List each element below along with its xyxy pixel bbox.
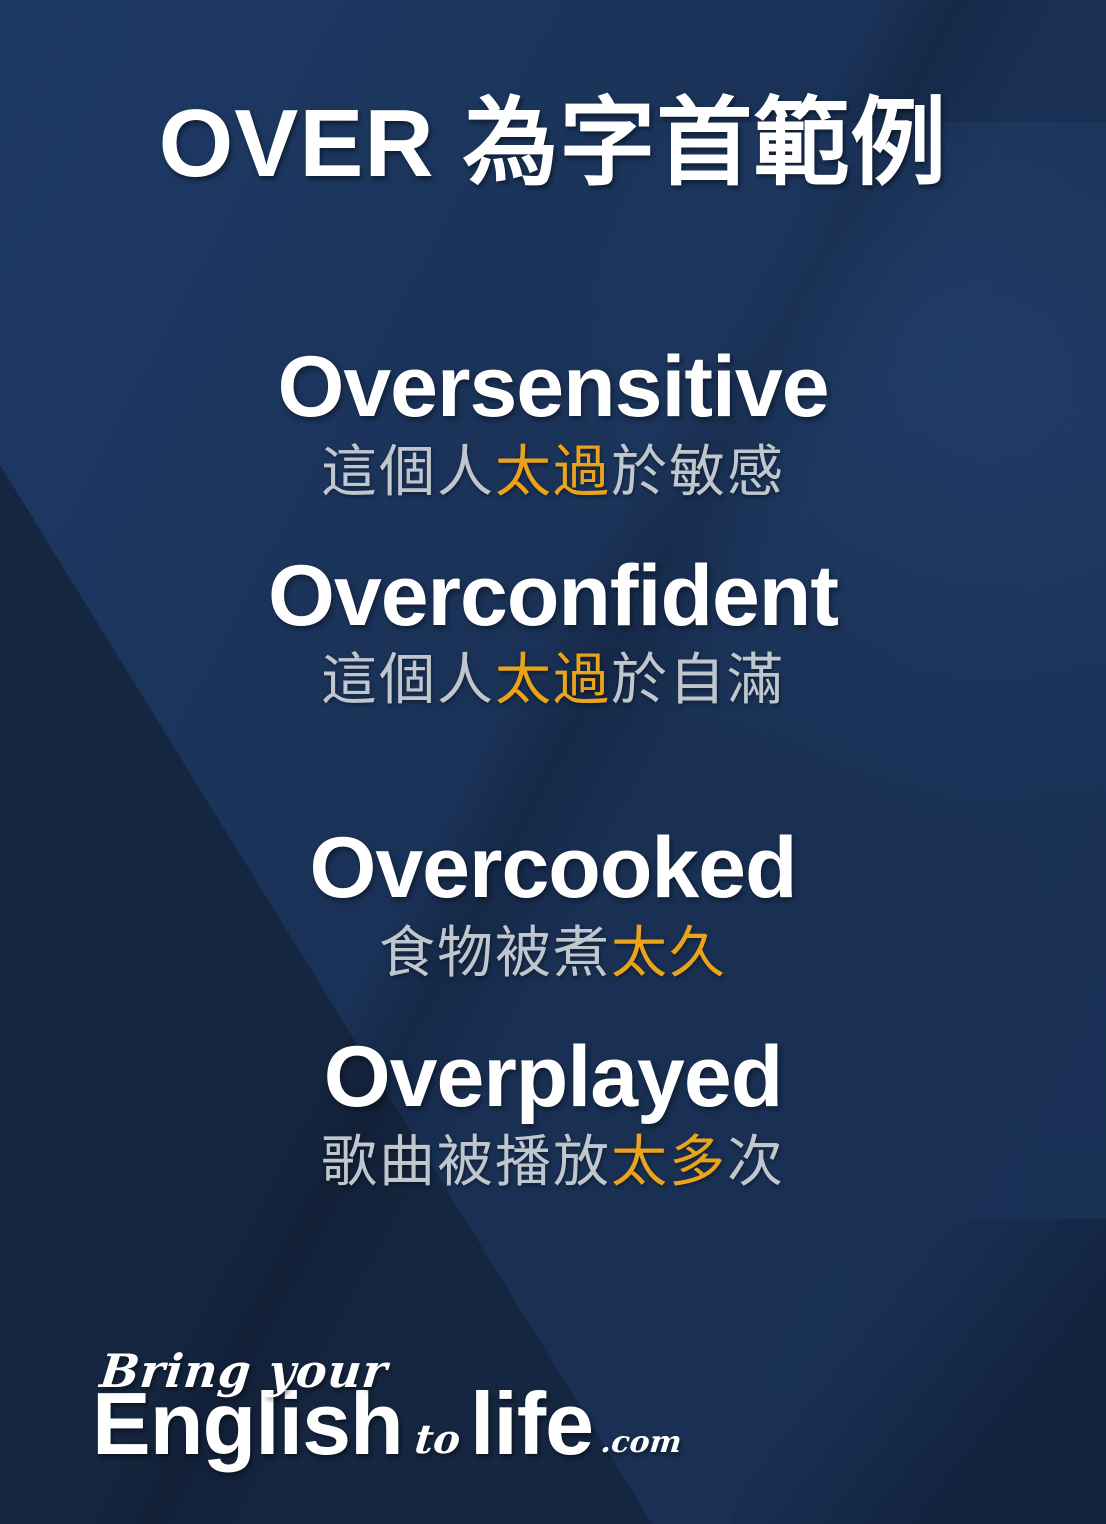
vocabulary-word: Oversensitive <box>0 340 1106 435</box>
translation-before: 歌曲被播放 <box>321 1130 611 1193</box>
translation-before: 食物被煮 <box>379 921 611 984</box>
vocabulary-translation: 這個人太過於敏感 <box>0 439 1106 505</box>
translation-highlight: 太久 <box>611 921 727 984</box>
translation-after: 次 <box>727 1130 785 1193</box>
translation-highlight: 太過 <box>495 440 611 503</box>
translation-before: 這個人 <box>321 440 495 503</box>
poster-canvas: OVER 為字首範例 Oversensitive 這個人太過於敏感 Overco… <box>0 0 1106 1524</box>
translation-highlight: 太多 <box>611 1130 727 1193</box>
translation-before: 這個人 <box>321 648 495 711</box>
vocabulary-entry: Overconfident 這個人太過於自滿 <box>0 549 1106 714</box>
vocabulary-word: Overplayed <box>0 1030 1106 1125</box>
poster-content: OVER 為字首範例 Oversensitive 這個人太過於敏感 Overco… <box>0 0 1106 1524</box>
vocabulary-list: Oversensitive 這個人太過於敏感 Overconfident 這個人… <box>0 340 1106 1195</box>
vocabulary-translation: 食物被煮太久 <box>0 920 1106 986</box>
vocabulary-entry: Overplayed 歌曲被播放太多次 <box>0 1030 1106 1195</box>
brand-logo: Bring your English to life .com <box>92 1348 682 1468</box>
vocabulary-entry: Oversensitive 這個人太過於敏感 <box>0 340 1106 505</box>
page-title: OVER 為字首範例 <box>0 92 1106 196</box>
vocabulary-translation: 歌曲被播放太多次 <box>0 1129 1106 1195</box>
translation-after: 於自滿 <box>611 648 785 711</box>
logo-tld: .com <box>600 1428 684 1458</box>
logo-tagline: Bring your <box>92 1348 686 1394</box>
vocabulary-translation: 這個人太過於自滿 <box>0 647 1106 713</box>
vocabulary-word: Overconfident <box>0 549 1106 644</box>
vocabulary-entry: Overcooked 食物被煮太久 <box>0 821 1106 986</box>
vocabulary-word: Overcooked <box>0 821 1106 916</box>
translation-highlight: 太過 <box>495 648 611 711</box>
logo-connector-to: to <box>413 1420 462 1460</box>
translation-after: 於敏感 <box>611 440 785 503</box>
